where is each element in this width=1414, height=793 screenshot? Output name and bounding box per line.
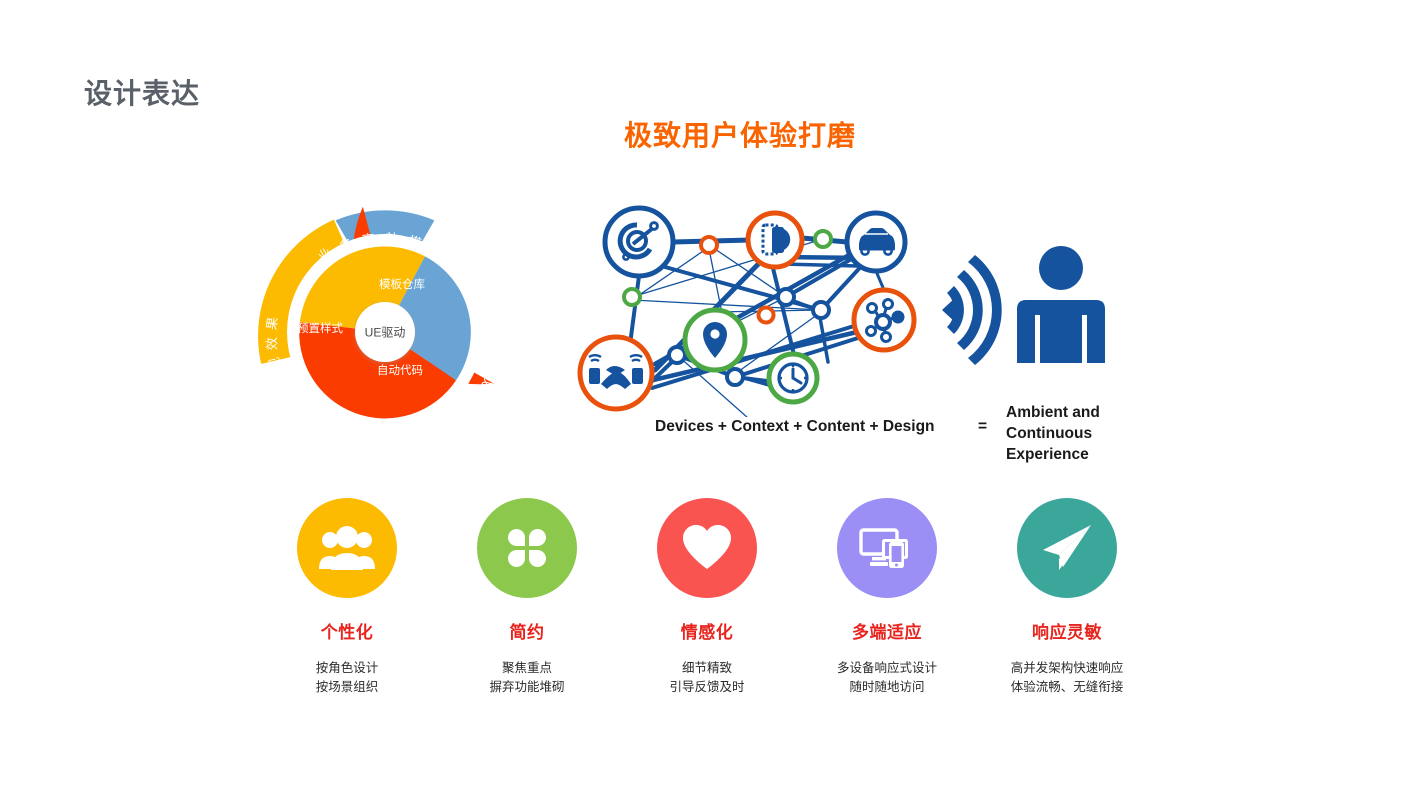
users-group-icon [318,525,376,571]
small-node-green-1 [815,231,831,247]
card-circle-responsive [1017,498,1117,598]
target-node[interactable] [605,208,673,276]
card-desc-emotion: 细节精致 引导反馈及时 [669,659,744,697]
card-desc-responsive: 高并发架构快速响应 体验流畅、无缝衔接 [1011,659,1124,697]
card-title-personalization: 个性化 [321,618,374,643]
network-svg [575,192,950,417]
feature-card-emotion[interactable]: 情感化 细节精致 引导反馈及时 [622,498,792,697]
equation-result: Ambient and Continuous Experience [1006,402,1166,465]
hub-node[interactable] [854,290,914,350]
paper-plane-icon [1039,522,1095,574]
wifi-person-svg [930,238,1130,368]
person-icon [1017,246,1105,363]
car-node[interactable] [847,213,905,271]
feature-card-simplicity[interactable]: 简约 聚焦重点 摒弃功能堆砌 [442,498,612,697]
slide-canvas: 设计表达 极致用户体验打磨 [0,0,1414,793]
feature-card-responsive[interactable]: 响应灵敏 高并发架构快速响应 体验流畅、无缝衔接 [982,498,1152,697]
location-node[interactable] [685,310,745,370]
handshake-node[interactable] [580,337,652,409]
clock-node[interactable] [769,354,817,402]
iot-network-diagram [575,192,950,412]
small-node-blue-3 [669,347,685,363]
card-desc-multidevice: 多设备响应式设计 随时随地访问 [837,659,937,697]
feature-card-multidevice[interactable]: 多端适应 多设备响应式设计 随时随地访问 [802,498,972,697]
section-title: 极致用户体验打磨 [590,114,890,154]
small-node-blue-2 [813,302,829,318]
donut-center-label: UE驱动 [365,324,406,341]
small-node-green-2 [624,289,640,305]
card-desc-simplicity: 聚焦重点 摒弃功能堆砌 [489,659,564,697]
card-title-responsive: 响应灵敏 [1032,618,1102,643]
equation-equals: = [978,418,987,436]
card-circle-simplicity [477,498,577,598]
card-circle-personalization [297,498,397,598]
mobile-node[interactable] [748,213,802,267]
heart-icon [681,524,733,572]
feature-card-personalization[interactable]: 个性化 按角色设计 按场景组织 [262,498,432,697]
card-title-simplicity: 简约 [510,618,545,643]
card-circle-multidevice [837,498,937,598]
inner-label-template: 模板仓库 [379,276,425,292]
card-desc-personalization: 按角色设计 按场景组织 [316,659,379,697]
page-title: 设计表达 [84,72,200,112]
inner-label-prestyle: 预置样式 [297,320,343,336]
equation-text: Devices + Context + Content + Design [655,418,1005,436]
small-node-blue-4 [727,369,743,385]
inner-label-autocode: 自动代码 [377,362,423,378]
small-node-orange-1 [701,237,717,253]
wifi-person-group [930,238,1130,368]
four-petal-icon [504,525,550,571]
feature-cards: 个性化 按角色设计 按场景组织 简约 聚焦重点 摒弃功能堆砌 [262,498,1152,728]
small-node-orange-2 [759,308,774,323]
small-node-blue-1 [778,289,794,305]
multi-device-icon [858,525,916,571]
ue-donut-chart: 业务高效搭建 快速生成页面 高保真实现效果 UE驱动 模板仓库 自动代码 预置样… [245,192,525,472]
card-title-multidevice: 多端适应 [852,618,922,643]
wifi-signal-icon [942,255,1002,365]
card-title-emotion: 情感化 [681,618,734,643]
card-circle-emotion [657,498,757,598]
